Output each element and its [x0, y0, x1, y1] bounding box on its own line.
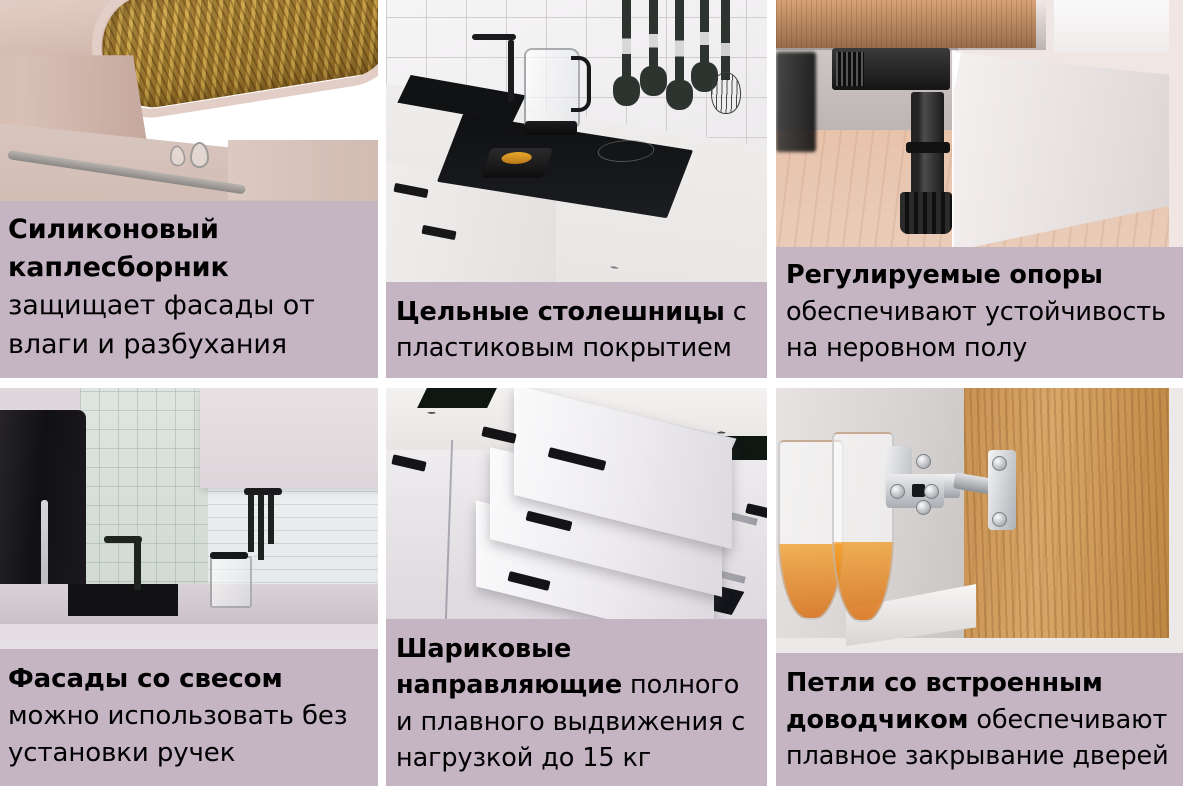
- feature-caption: Регулируемые опоры обеспечивают устойчив…: [776, 247, 1183, 378]
- background-leg: [776, 52, 816, 152]
- spatula-icon: [622, 0, 631, 84]
- caption-text: Петли со встроенным доводчиком обеспечив…: [786, 665, 1175, 774]
- caption-text: Шариковые направляющие полного и плавног…: [396, 631, 759, 776]
- ladle-icon: [649, 0, 658, 74]
- screw-icon: [916, 500, 931, 515]
- screw-icon: [924, 484, 939, 499]
- caption-bold: Фасады со свесом: [8, 664, 283, 694]
- feature-caption: Фасады со свесом можно использовать без …: [0, 649, 378, 786]
- hanging-utensil-icon: [268, 494, 274, 544]
- faucet-spout: [134, 538, 141, 590]
- feature-card-overhang-facades: Фасады со свесом можно использовать без …: [0, 388, 378, 786]
- whisk-icon: [721, 0, 730, 80]
- cooktop-corner: [417, 388, 497, 408]
- feature-card-soft-close-hinges: Петли со встроенным доводчиком обеспечив…: [776, 388, 1183, 786]
- white-cabinet-panel: [1054, 0, 1169, 52]
- caption-bold: Цельные столешницы: [396, 297, 725, 327]
- hanging-utensil-icon: [258, 494, 264, 560]
- turner-icon: [675, 0, 684, 88]
- caption-bold: Регулируемые опоры: [786, 260, 1103, 290]
- leg-foot-base: [900, 192, 952, 234]
- frying-pan: [481, 148, 553, 178]
- leg-mounting-bracket: [832, 48, 950, 90]
- caption-text: Фасады со свесом можно использовать без …: [8, 661, 370, 772]
- caption-text: Силиконовый каплесборник защищает фасады…: [8, 211, 370, 364]
- water-drop-icon: [190, 142, 209, 168]
- caption-bold: Шариковые направляющие: [396, 634, 622, 700]
- leg-adjustment-ring: [906, 142, 950, 153]
- caption-text: Цельные столешницы с пластиковым покрыти…: [396, 294, 759, 366]
- feature-caption: Цельные столешницы с пластиковым покрыти…: [386, 282, 767, 378]
- feature-caption: Силиконовый каплесборник защищает фасады…: [0, 201, 378, 378]
- feature-card-silicone-drip-catcher: Силиконовый каплесборник защищает фасады…: [0, 0, 378, 378]
- features-grid: Силиконовый каплесборник защищает фасады…: [0, 0, 1183, 786]
- feature-card-solid-countertops: Цельные столешницы с пластиковым покрыти…: [386, 0, 767, 378]
- caption-rest: можно использовать без установки ручек: [8, 701, 348, 768]
- hanging-utensil-icon: [248, 494, 254, 552]
- faucet-spout: [508, 40, 514, 102]
- wood-shadow-overlay: [776, 0, 1046, 50]
- screw-icon: [992, 456, 1007, 471]
- countertop: [0, 584, 378, 624]
- glass-kettle: [524, 48, 580, 128]
- screw-icon: [890, 484, 905, 499]
- sink-basin: [68, 584, 178, 616]
- caption-rest: защищает фасады от влаги и разбухания: [8, 290, 315, 359]
- feature-caption: Шариковые направляющие полного и плавног…: [386, 619, 767, 786]
- caption-bold: Силиконовый каплесборник: [8, 214, 229, 283]
- caption-rest: обеспечивают устойчивость на неровном по…: [786, 297, 1166, 363]
- upper-cabinet: [200, 388, 378, 488]
- cabinet-side-panel: [228, 140, 378, 200]
- feature-caption: Петли со встроенным доводчиком обеспечив…: [776, 653, 1183, 786]
- feature-card-adjustable-legs: Регулируемые опоры обеспечивают устойчив…: [776, 0, 1183, 378]
- caption-text: Регулируемые опоры обеспечивают устойчив…: [786, 257, 1175, 366]
- glass-jar: [210, 556, 252, 608]
- screw-icon: [992, 512, 1007, 527]
- spoon-icon: [700, 0, 709, 70]
- screw-icon: [916, 454, 931, 469]
- feature-card-ball-bearing-slides: Шариковые направляющие полного и плавног…: [386, 388, 767, 786]
